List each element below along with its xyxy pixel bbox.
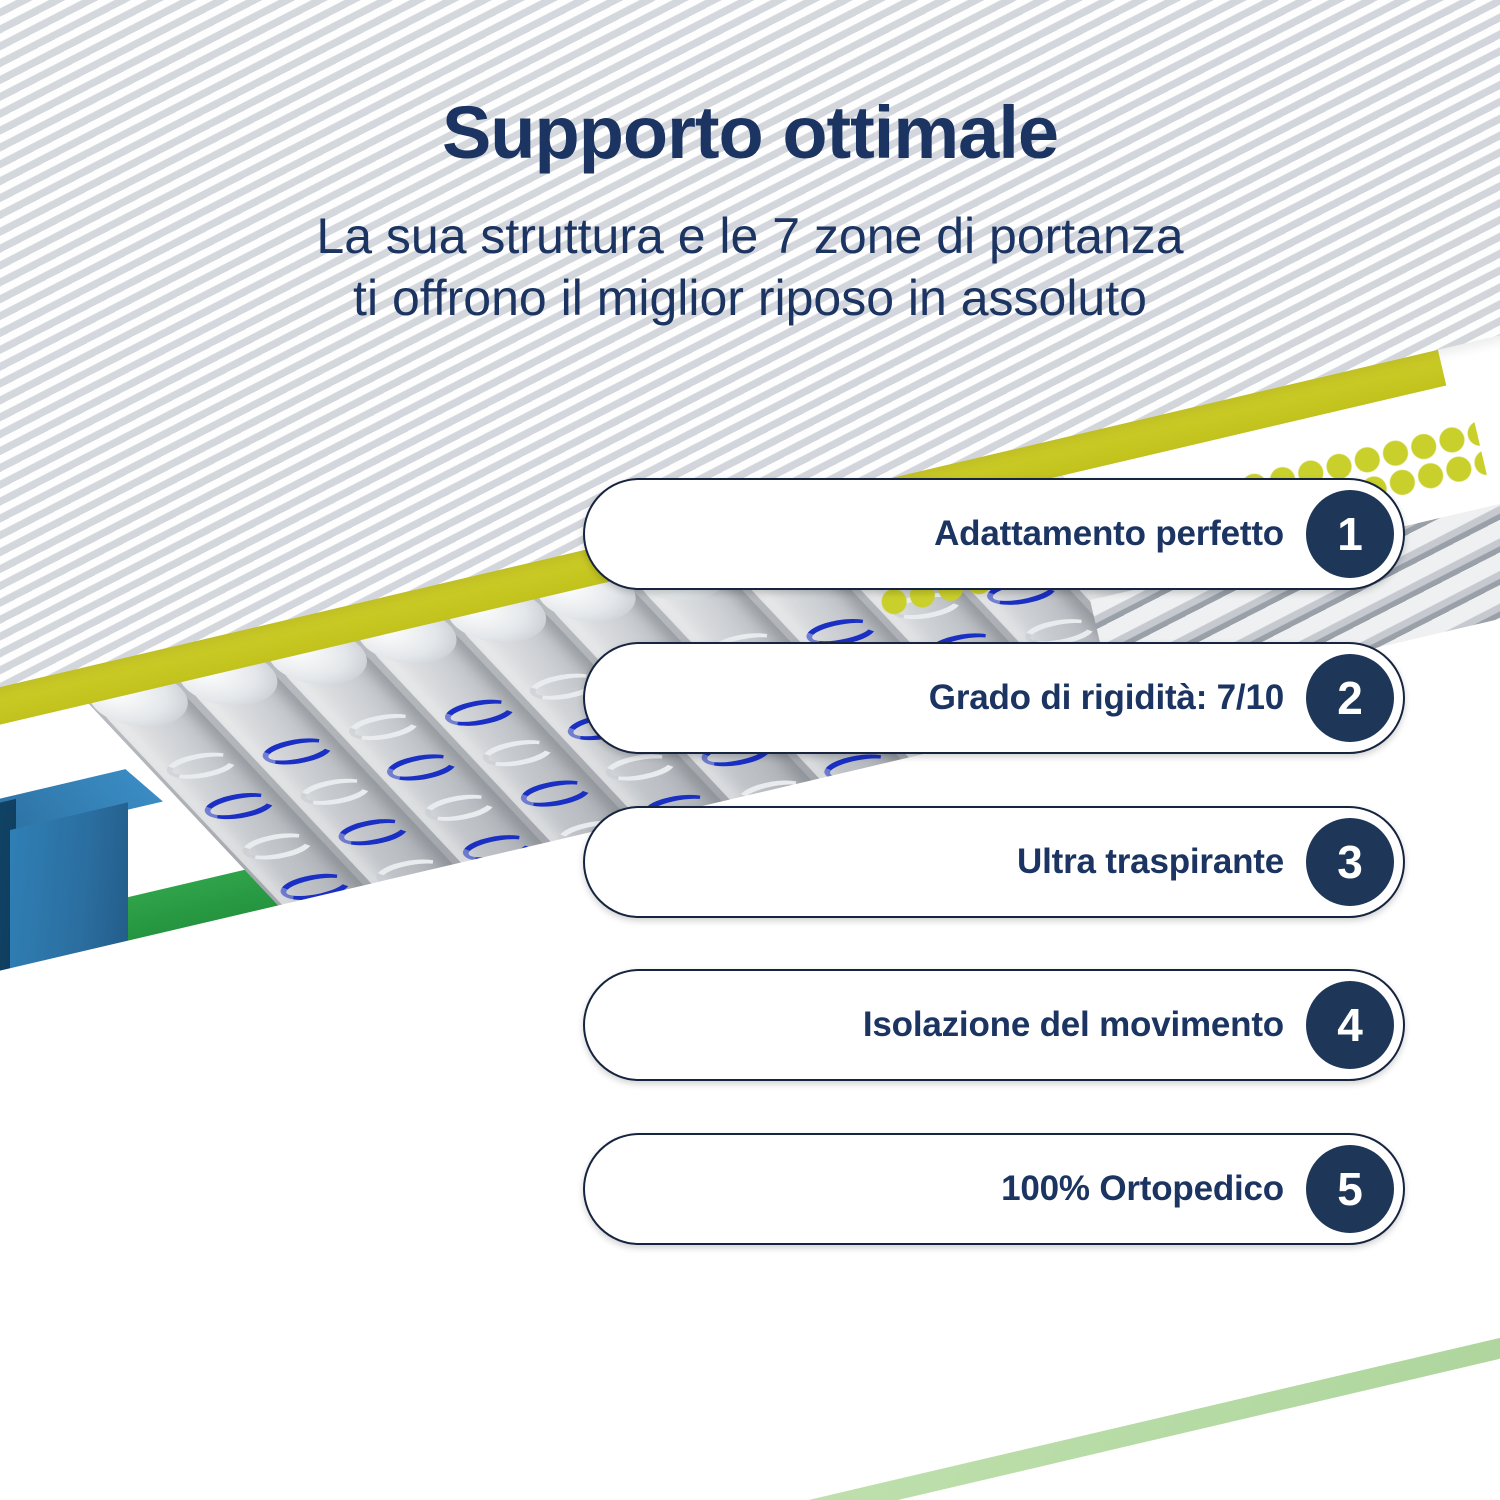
feature-label: 100% Ortopedico xyxy=(1001,1169,1284,1209)
page-subtitle-line-1: La sua struttura e le 7 zone di portanza xyxy=(0,205,1500,267)
feature-pill-1[interactable]: Adattamento perfetto 1 xyxy=(583,478,1405,590)
feature-number-badge: 5 xyxy=(1306,1145,1394,1233)
feature-pill-5[interactable]: 100% Ortopedico 5 xyxy=(583,1133,1405,1245)
feature-number-badge: 3 xyxy=(1306,818,1394,906)
feature-number-badge: 1 xyxy=(1306,490,1394,578)
page-subtitle: La sua struttura e le 7 zone di portanza… xyxy=(0,205,1500,329)
feature-number-badge: 4 xyxy=(1306,981,1394,1069)
feature-label: Ultra traspirante xyxy=(1017,842,1284,882)
infographic-root: Supporto ottimale La sua struttura e le … xyxy=(0,0,1500,1500)
feature-label: Grado di rigidità: 7/10 xyxy=(929,678,1284,718)
feature-label: Isolazione del movimento xyxy=(863,1005,1284,1045)
page-subtitle-line-2: ti offrono il miglior riposo in assoluto xyxy=(0,267,1500,329)
feature-pill-4[interactable]: Isolazione del movimento 4 xyxy=(583,969,1405,1081)
feature-number-badge: 2 xyxy=(1306,654,1394,742)
feature-pill-3[interactable]: Ultra traspirante 3 xyxy=(583,806,1405,918)
feature-label: Adattamento perfetto xyxy=(934,514,1284,554)
page-title: Supporto ottimale xyxy=(0,96,1500,170)
feature-pill-2[interactable]: Grado di rigidità: 7/10 2 xyxy=(583,642,1405,754)
